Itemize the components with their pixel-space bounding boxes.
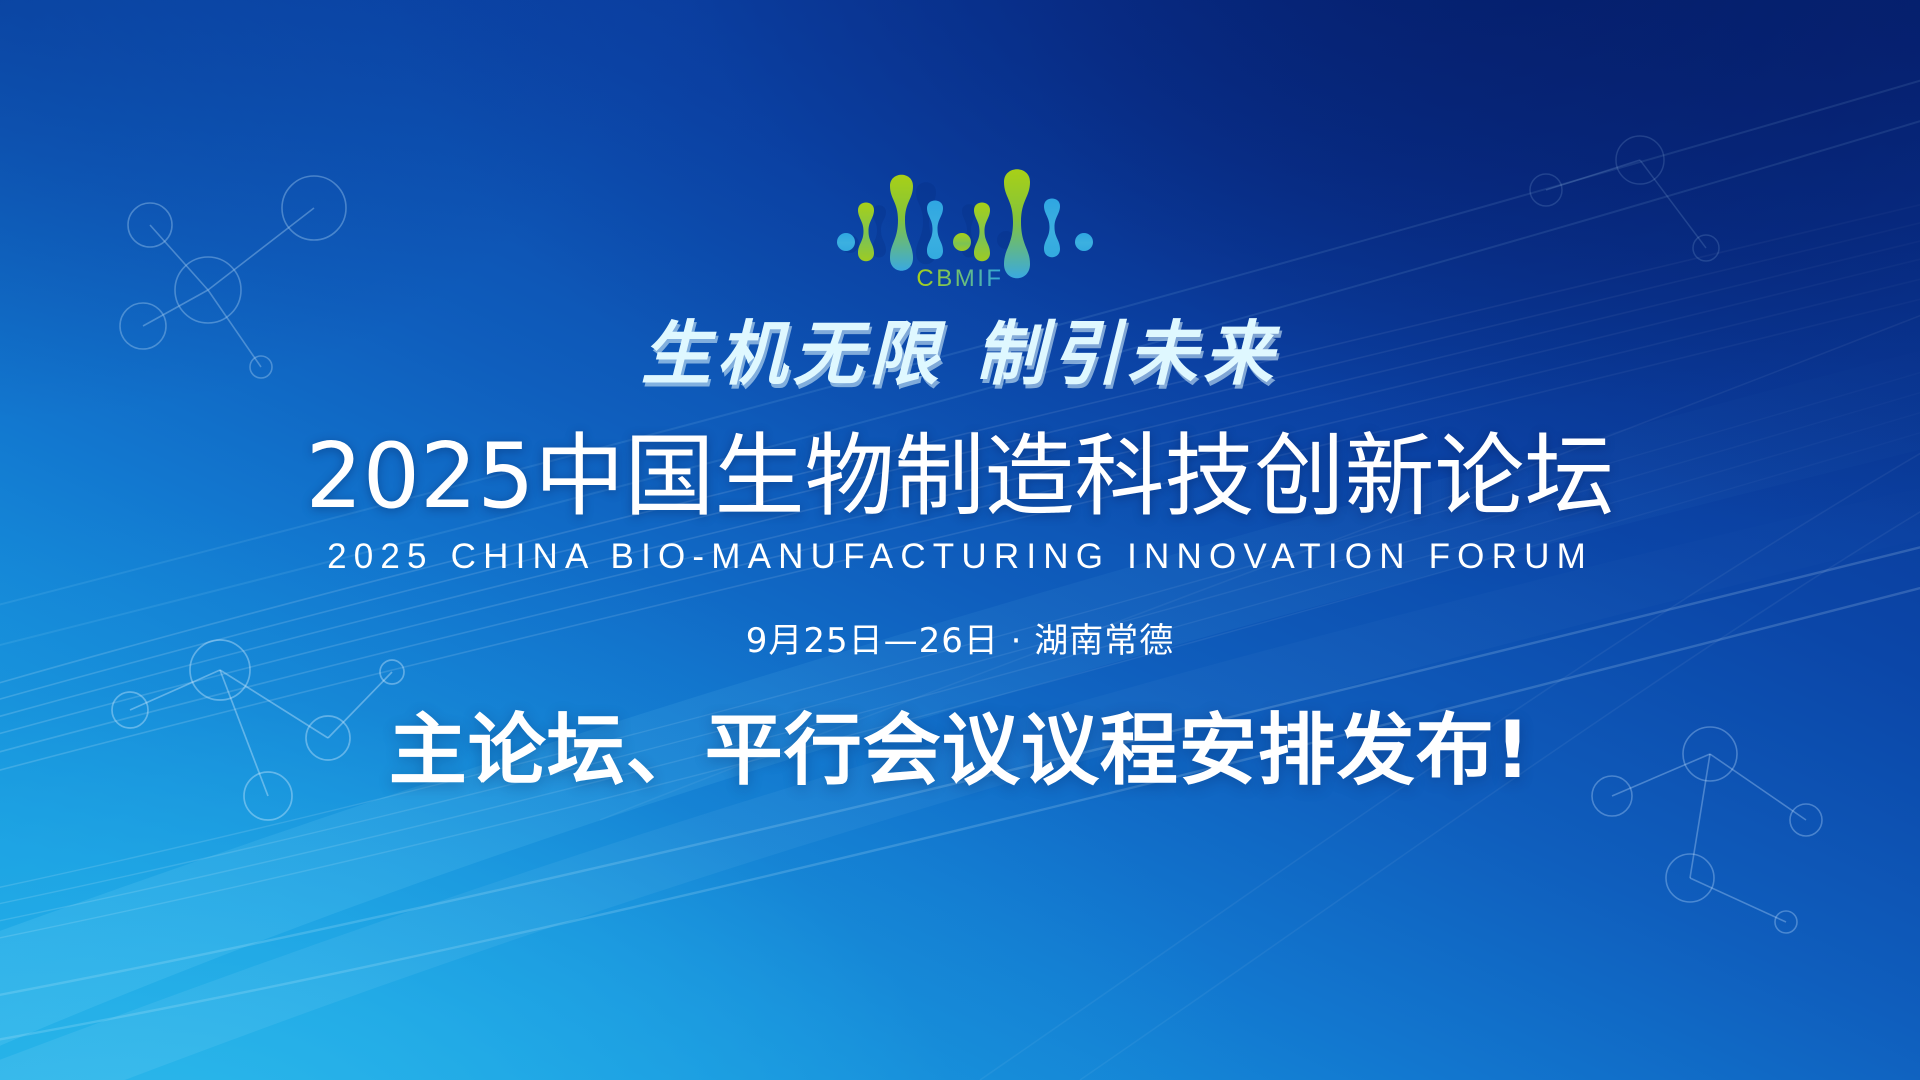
page-title: 2025中国生物制造科技创新论坛 — [305, 428, 1614, 525]
logo-droplet-4 — [974, 203, 990, 262]
english-subtitle: 2025 CHINA BIO-MANUFACTURING INNOVATION … — [327, 537, 1593, 577]
logo-droplet-5 — [1004, 169, 1030, 278]
logo-wordmark: CBMIF — [916, 265, 1003, 290]
logo-dot-1 — [837, 233, 855, 251]
logo-droplet-1 — [858, 203, 874, 262]
logo-dot-2 — [953, 233, 971, 251]
cbmif-droplet-cluster-icon: CBMIF — [810, 168, 1110, 290]
banner-content: CBMIF 生机无限 制引未来 生机无限 制引未来 2025中国生物制造科技创新… — [0, 0, 1920, 1080]
logo-droplet-6 — [1044, 199, 1060, 258]
date-location-text: 9月25日—26日 · 湖南常德 — [746, 613, 1175, 662]
logo-droplet-2 — [890, 175, 913, 271]
headline-announcement: 主论坛、平行会议议程安排发布! — [389, 688, 1532, 800]
forum-promo-banner: CBMIF 生机无限 制引未来 生机无限 制引未来 2025中国生物制造科技创新… — [0, 0, 1920, 1080]
slogan-text: 生机无限 制引未来 — [641, 312, 1281, 395]
logo-dot-3 — [1075, 233, 1093, 251]
cbmif-logo: CBMIF — [810, 168, 1110, 290]
calligraphy-slogan: 生机无限 制引未来 生机无限 制引未来 — [640, 308, 1280, 404]
